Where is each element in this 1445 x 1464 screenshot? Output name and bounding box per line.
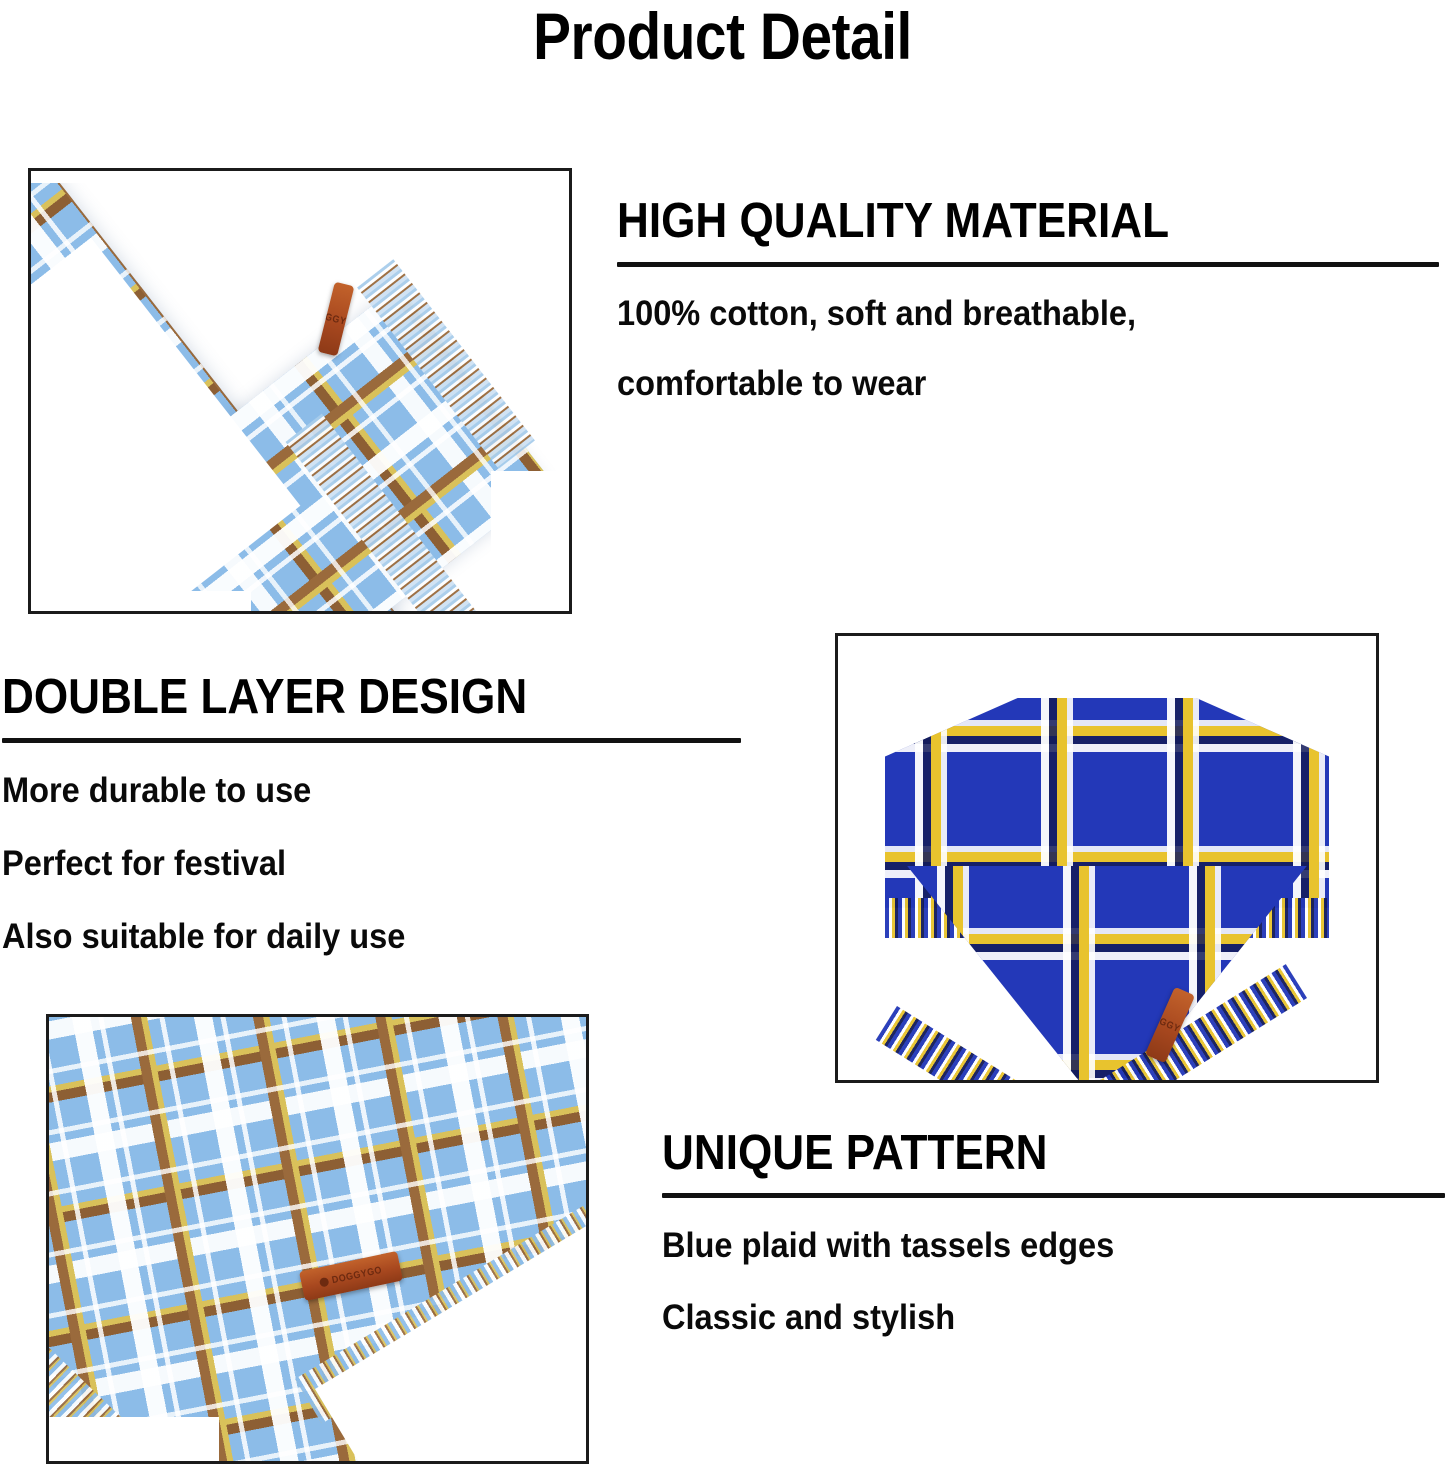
product-photo-light-blue-plaid-corner: DOGGYGO <box>46 1014 589 1464</box>
feature-body-line: More durable to use <box>2 773 695 808</box>
heading-underline-rule <box>662 1193 1445 1198</box>
feature-body-line: Perfect for festival <box>2 846 695 881</box>
heading-underline-rule <box>617 262 1439 267</box>
product-photo-folded-light-blue-scarf: DOGGYGO <box>28 168 572 614</box>
feature-body: More durable to use Perfect for festival… <box>2 773 695 954</box>
feature-heading: UNIQUE PATTERN <box>662 1128 1368 1180</box>
photo-canvas: DOGGYGO <box>31 171 569 611</box>
feature-body-line-emphasis: for daily use <box>214 917 406 956</box>
feature-body-line: 100% cotton, soft and breathable, <box>617 296 1387 331</box>
feature-body-line: comfortable to wear <box>617 366 1387 401</box>
backdrop-mask <box>491 471 572 614</box>
photo-canvas: DOGGYGO <box>49 1017 586 1461</box>
feature-body-line-prefix: Also suitable <box>2 917 214 956</box>
page-title: Product Detail <box>101 2 1344 71</box>
feature-high-quality-material: HIGH QUALITY MATERIAL 100% cotton, soft … <box>617 196 1445 401</box>
feature-body: Blue plaid with tassels edges Classic an… <box>662 1228 1391 1335</box>
feature-heading: HIGH QUALITY MATERIAL <box>617 196 1362 248</box>
backdrop-mask <box>46 1417 219 1464</box>
feature-body-line: Classic and stylish <box>662 1300 1391 1335</box>
feature-body-line: Blue plaid with tassels edges <box>662 1228 1391 1263</box>
feature-body: 100% cotton, soft and breathable, comfor… <box>617 296 1387 401</box>
feature-double-layer-design: DOUBLE LAYER DESIGN More durable to use … <box>2 672 747 954</box>
product-photo-royal-blue-triangle-bandana: DOGGYGO <box>835 633 1379 1083</box>
heading-underline-rule <box>2 738 741 743</box>
tag-brand-text: DOGGYGO <box>331 1264 383 1285</box>
backdrop-mask <box>28 591 251 614</box>
paw-print-icon <box>319 1276 330 1287</box>
photo-canvas: DOGGYGO <box>838 636 1376 1080</box>
feature-unique-pattern: UNIQUE PATTERN Blue plaid with tassels e… <box>662 1128 1445 1335</box>
feature-heading: DOUBLE LAYER DESIGN <box>2 672 673 724</box>
product-detail-page: Product Detail DOGGYGO HIGH QUALITY MATE… <box>0 0 1445 1460</box>
feature-body-line: Also suitable for daily use <box>2 919 695 954</box>
